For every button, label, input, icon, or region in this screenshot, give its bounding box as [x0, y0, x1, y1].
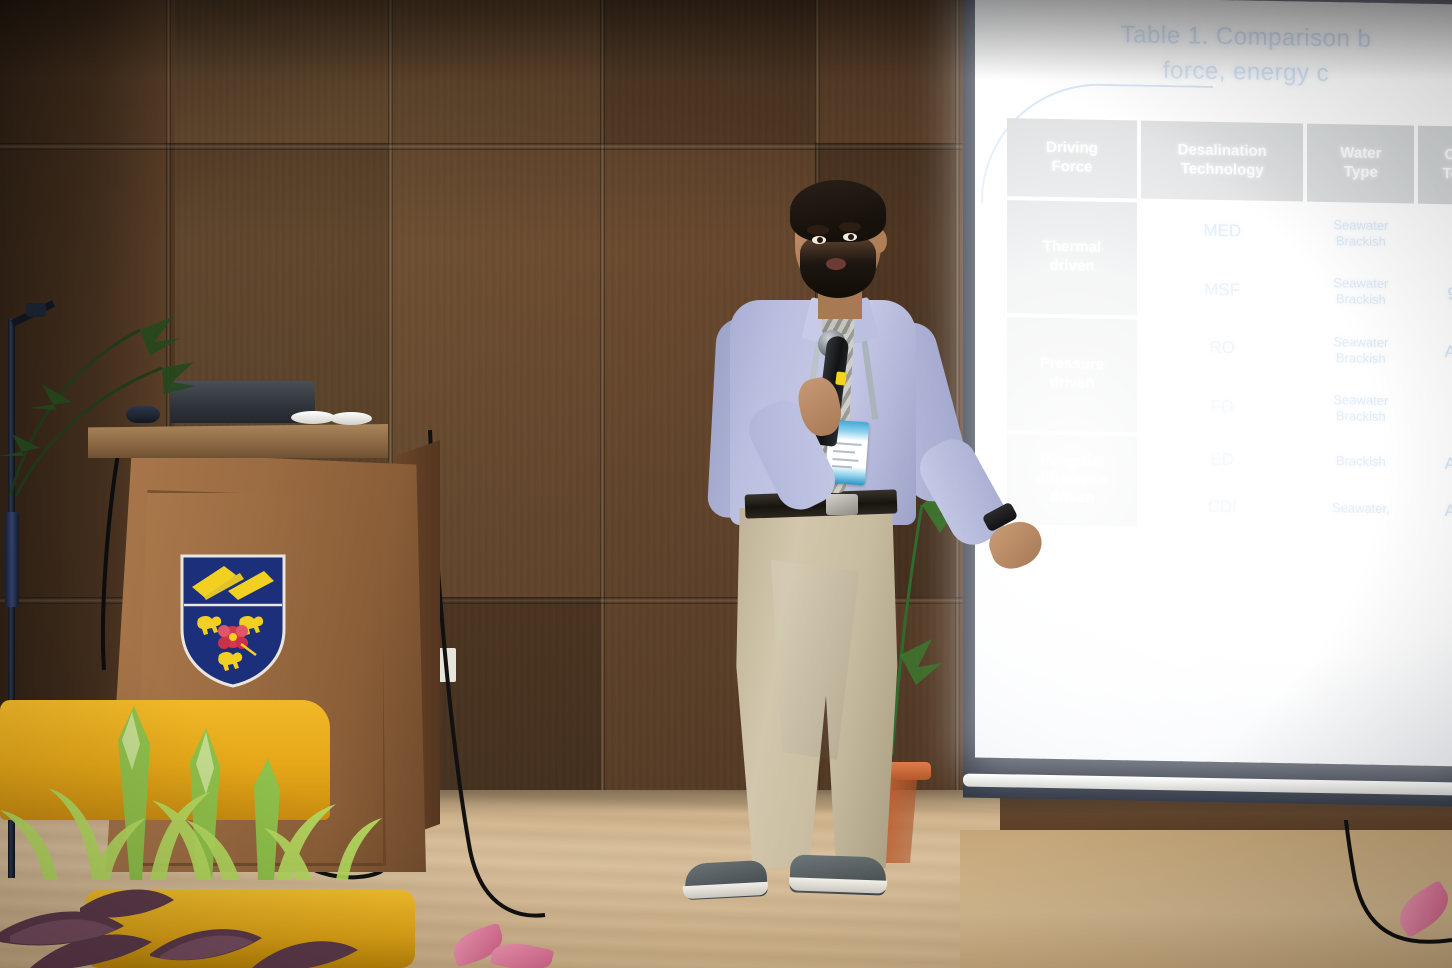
- technology-cell: RO: [1141, 319, 1304, 376]
- driving-force-cell: Thermaldriven: [1007, 200, 1137, 315]
- table-row: PotentialdifferencedrivenEDBrackishAmbie: [1007, 434, 1452, 487]
- microphone-power-button[interactable]: [835, 371, 847, 385]
- water-type-cell: Brackish: [1307, 439, 1414, 484]
- slide-title: Table 1. Comparison b force, energy c: [1031, 17, 1452, 94]
- purple-foliage: [0, 880, 430, 968]
- water-type-cell: SeawaterBrackish: [1307, 264, 1414, 320]
- table-header-cell-0: DrivingForce: [1007, 118, 1137, 198]
- driving-force-cell: Potentialdifferencedriven: [1007, 434, 1137, 527]
- dark-background-plant: [0, 276, 200, 506]
- technology-cell: CDI: [1141, 483, 1304, 529]
- saucer: [330, 412, 372, 425]
- technology-cell: FO: [1141, 378, 1304, 435]
- water-type-cell: SeawaterBrackish: [1307, 205, 1414, 261]
- water-type-cell: SeawaterBrackish: [1307, 381, 1414, 437]
- operating-temp-cell: 70: [1418, 207, 1452, 263]
- table-row: ThermaldrivenMEDSeawaterBrackish70: [1007, 200, 1452, 264]
- projection-screen: Table 1. Comparison b force, energy c Dr…: [975, 0, 1452, 766]
- belt-buckle: [826, 494, 858, 515]
- table-header-cell-1: DesalinationTechnology: [1141, 121, 1304, 201]
- saucer: [291, 411, 335, 424]
- speaker-face-features: [800, 214, 880, 274]
- water-type-cell: SeawaterBrackish: [1307, 322, 1414, 378]
- presentation-photo: Table 1. Comparison b force, energy c Dr…: [0, 0, 1452, 968]
- operating-temp-cell: 90-11: [1418, 266, 1452, 322]
- operating-temp-cell: Ambie: [1418, 441, 1452, 486]
- operating-temp-cell: [1418, 383, 1452, 439]
- operating-temp-cell: Ambie: [1418, 488, 1452, 533]
- slide-comparison-table: DrivingForceDesalinationTechnologyWaterT…: [1003, 114, 1452, 538]
- wall-panel: [600, 0, 815, 143]
- table-header-cell-2: WaterType: [1307, 124, 1414, 203]
- water-type-cell: Seawater,: [1307, 486, 1414, 531]
- technology-cell: ED: [1141, 436, 1304, 482]
- foreground-green-plants: [0, 700, 420, 880]
- technology-cell: MED: [1141, 202, 1304, 259]
- operating-temp-cell: Ambie: [1418, 324, 1452, 380]
- table-row: PressuredrivenROSeawaterBrackishAmbie: [1007, 317, 1452, 381]
- technology-cell: MSF: [1141, 261, 1304, 318]
- table-header-cell-3: OperatTemp. (: [1418, 126, 1452, 205]
- driving-force-cell: Pressuredriven: [1007, 317, 1137, 432]
- cable-right: [960, 820, 1452, 968]
- table-header-row: DrivingForceDesalinationTechnologyWaterT…: [1007, 118, 1452, 205]
- university-crest: [178, 553, 288, 688]
